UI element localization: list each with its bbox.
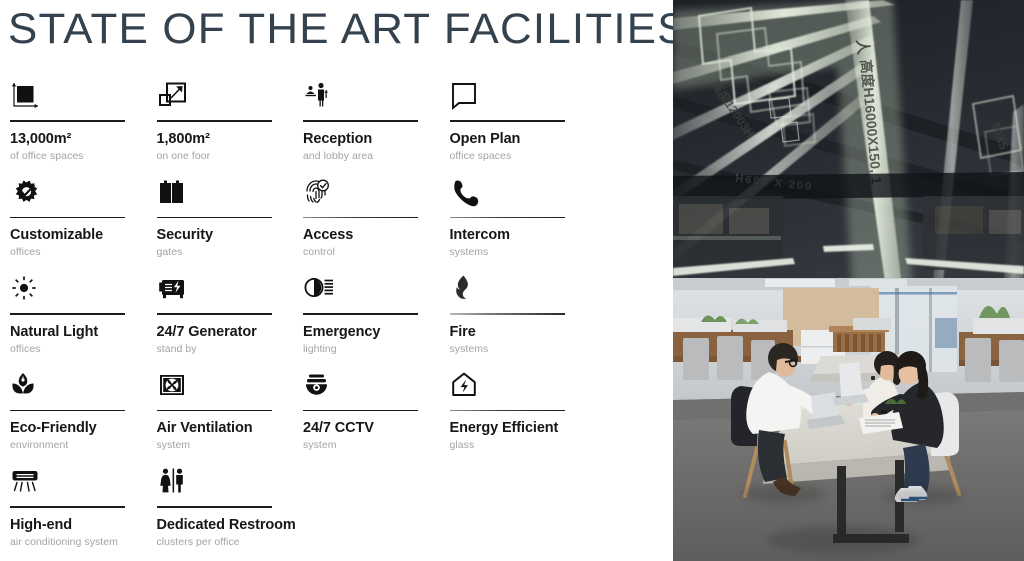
content-panel: STATE OF THE ART FACILITIES 13,000m² [0,0,673,561]
item-divider [303,217,418,219]
facility-item-fire: Fire systems [450,271,597,368]
reception-desk-icon [303,78,450,112]
facility-item-dedicated-restroom: Dedicated Restroom clusters per office [157,464,304,561]
flame-icon [450,271,597,305]
facility-item-customizable: Customizable offices [10,175,157,272]
facility-title: Dedicated Restroom [157,517,304,534]
facility-subtitle: and lobby area [303,150,450,163]
facility-title: Intercom [450,227,597,244]
item-divider [157,120,272,122]
svg-text:人: 人 [853,39,872,57]
facility-subtitle: glass [450,439,597,452]
sun-icon [10,271,157,305]
facility-item-high-end-ac: High-end air conditioning system [10,464,157,561]
facility-title: Air Ventilation [157,420,304,437]
item-divider [303,120,418,122]
item-divider [10,410,125,412]
item-divider [157,410,272,412]
facility-title: High-end [10,517,157,534]
facility-title: Energy Efficient [450,420,597,437]
facility-title: Fire [450,324,597,341]
facilities-row: 13,000m² of office spaces 1,800m² [10,78,610,175]
ventilation-fan-icon [157,368,304,402]
facility-subtitle: stand by [157,343,304,356]
facility-subtitle: air conditioning system [10,536,157,549]
facility-item-floor-area: 13,000m² of office spaces [10,78,157,175]
facility-subtitle: of office spaces [10,150,157,163]
facility-title: 24/7 Generator [157,324,304,341]
facility-title: Access [303,227,450,244]
item-divider [450,410,565,412]
facility-item-reception: Reception and lobby area [303,78,450,175]
facility-subtitle: system [157,439,304,452]
facility-item-emergency: Emergency lighting [303,271,450,368]
facility-title: Eco-Friendly [10,420,157,437]
facility-title: Reception [303,131,450,148]
facility-subtitle: environment [10,439,157,452]
open-plan-icon [450,78,597,112]
item-divider [450,217,565,219]
security-gate-icon [157,175,304,209]
house-bolt-icon [450,368,597,402]
facility-item-natural-light: Natural Light offices [10,271,157,368]
facilities-grid: 13,000m² of office spaces 1,800m² [10,78,610,561]
facility-subtitle: lighting [303,343,450,356]
facility-subtitle: systems [450,343,597,356]
facility-subtitle: offices [10,246,157,259]
air-conditioner-icon [10,464,157,498]
facility-item-access: Access control [303,175,450,272]
gear-check-icon [10,175,157,209]
facility-title: 1,800m² [157,131,304,148]
fingerprint-check-icon [303,175,450,209]
item-divider [10,217,125,219]
facility-subtitle: offices [10,343,157,356]
phone-handset-icon [450,175,597,209]
facilities-row: Natural Light offices [10,271,610,368]
item-divider [450,120,565,122]
open-plan-office-photo: 人 高度H16000X150, 1 高度12003H 50X5 H600 X 2… [673,0,1024,561]
facility-item-air-ventilation: Air Ventilation system [157,368,304,465]
cctv-dome-icon [303,368,450,402]
item-divider [157,313,272,315]
facility-subtitle: on one foor [157,150,304,163]
expand-area-icon [157,78,304,112]
facility-title: Security [157,227,304,244]
item-divider [10,313,125,315]
facility-subtitle: office spaces [450,150,597,163]
facility-title: Customizable [10,227,157,244]
facility-item-eco-friendly: Eco-Friendly environment [10,368,157,465]
leaf-icon [10,368,157,402]
facility-title: Natural Light [10,324,157,341]
facility-title: Open Plan [450,131,597,148]
facility-title: 13,000m² [10,131,157,148]
item-divider [303,313,418,315]
item-divider [10,506,125,508]
facility-item-open-plan: Open Plan office spaces [450,78,597,175]
facility-title: 24/7 CCTV [303,420,450,437]
emergency-light-icon [303,271,450,305]
facilities-row: Customizable offices Security gates [10,175,610,272]
item-divider [157,217,272,219]
item-divider [450,313,565,315]
facilities-row: High-end air conditioning system [10,464,610,561]
floor-area-icon [10,78,157,112]
facility-item-cctv: 24/7 CCTV system [303,368,450,465]
facility-item-generator: 24/7 Generator stand by [157,271,304,368]
item-divider [303,410,418,412]
restroom-icon [157,464,304,498]
facility-subtitle: system [303,439,450,452]
page-title: STATE OF THE ART FACILITIES [8,2,688,56]
facility-title: Emergency [303,324,450,341]
facilities-row: Eco-Friendly environment [10,368,610,465]
facility-item-energy-efficient: Energy Efficient glass [450,368,597,465]
facility-item-security: Security gates [157,175,304,272]
item-divider [157,506,272,508]
facilities-page: STATE OF THE ART FACILITIES 13,000m² [0,0,1024,561]
facility-item-intercom: Intercom systems [450,175,597,272]
facility-subtitle: gates [157,246,304,259]
facility-subtitle: control [303,246,450,259]
facility-subtitle: systems [450,246,597,259]
item-divider [10,120,125,122]
facility-subtitle: clusters per office [157,536,304,549]
facility-item-expand-area: 1,800m² on one foor [157,78,304,175]
generator-bolt-icon [157,271,304,305]
